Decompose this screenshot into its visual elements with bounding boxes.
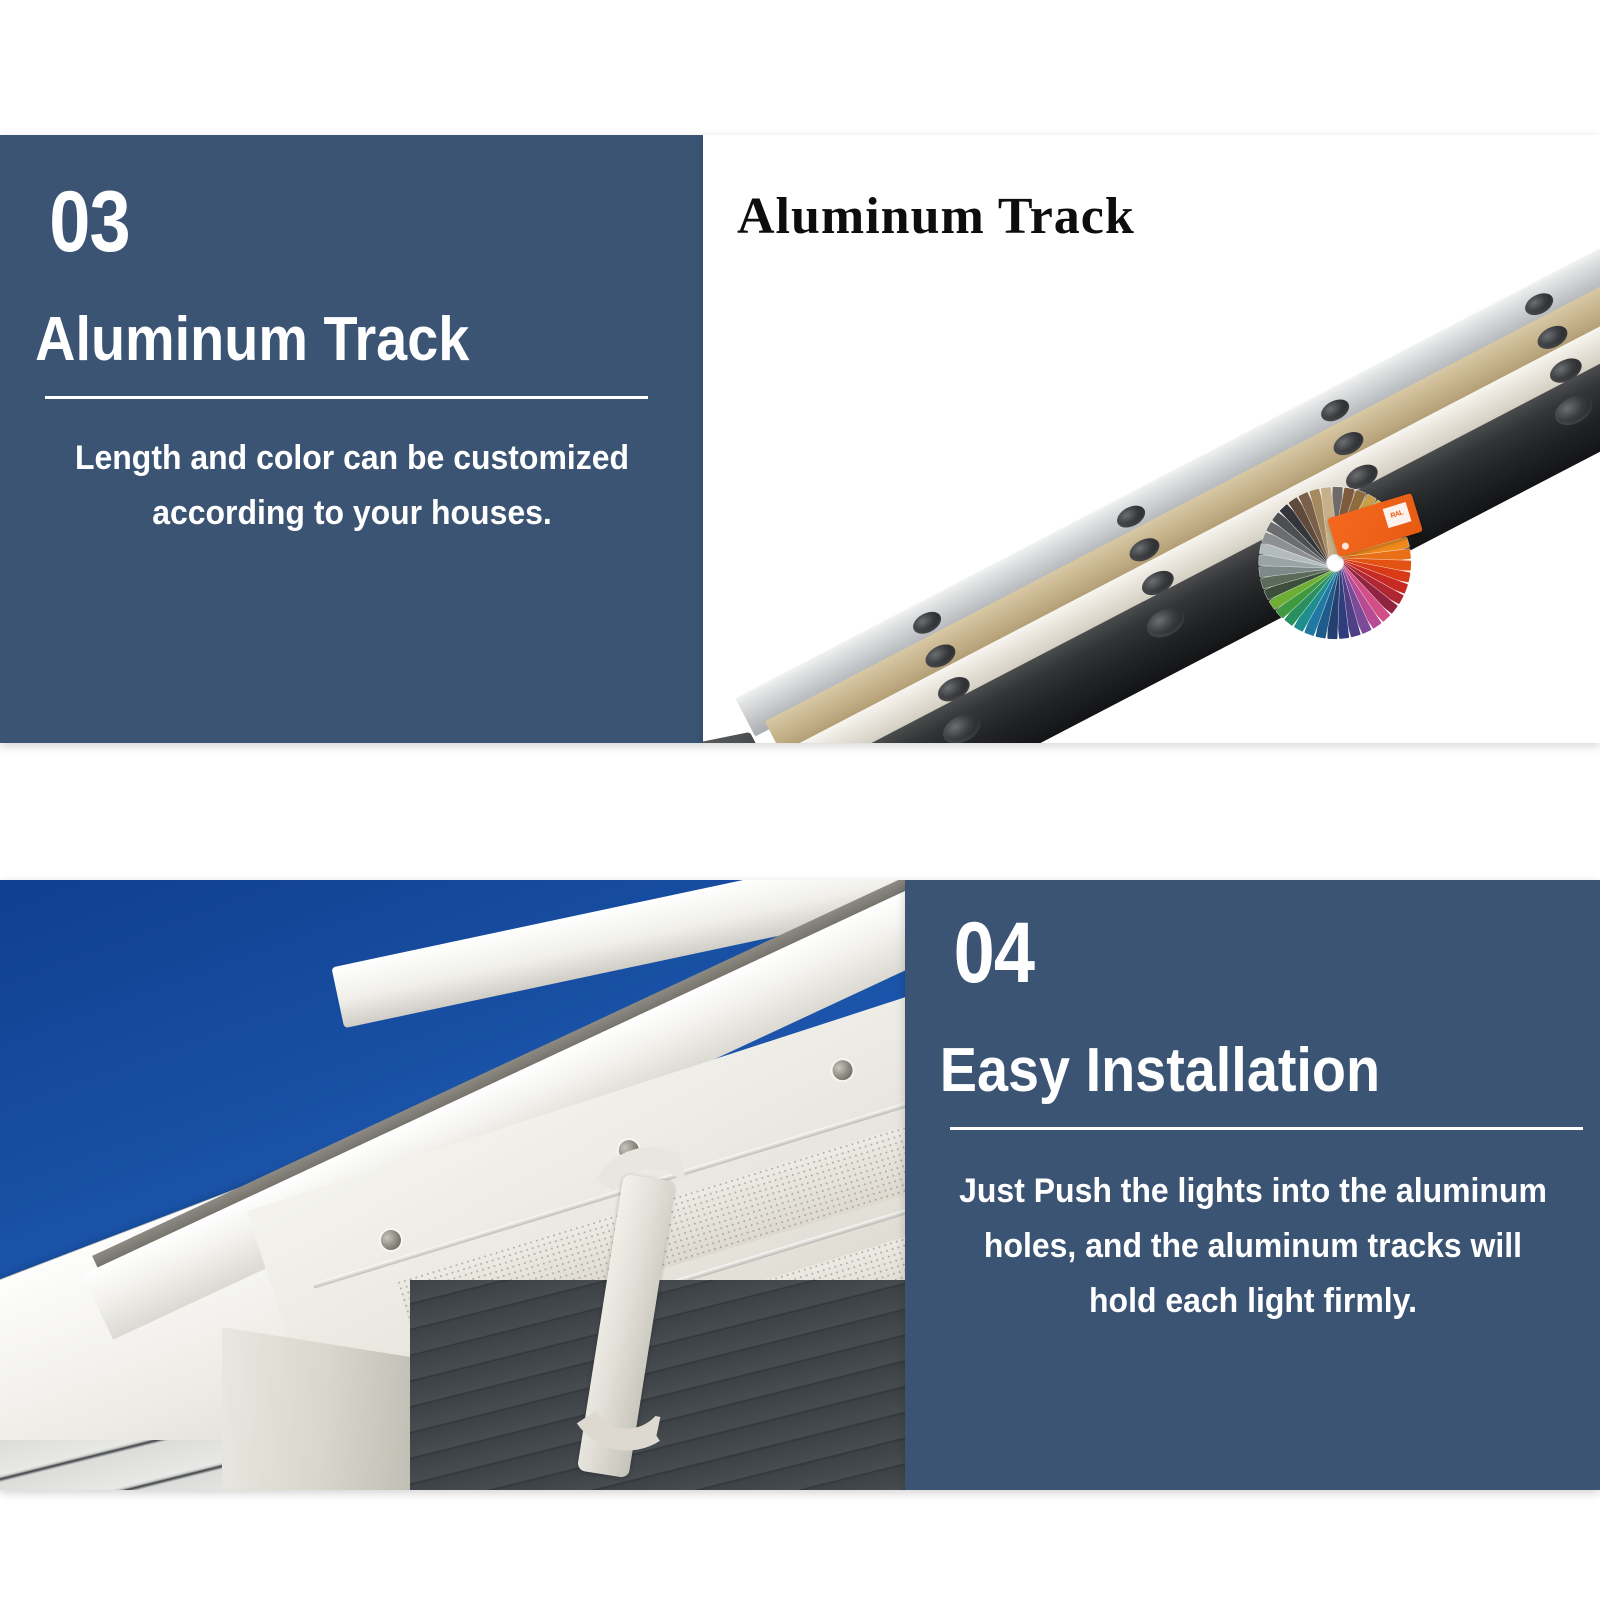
section-03: 03 Aluminum Track Length and color can b…	[0, 135, 1600, 743]
section-04-title: Easy Installation	[940, 1038, 1566, 1103]
dark-wall-siding	[410, 1280, 905, 1490]
section-03-divider	[45, 396, 648, 399]
section-04-divider	[950, 1127, 1583, 1130]
fan-card-rivet	[1341, 542, 1350, 551]
section-03-product-panel: Aluminum Track	[703, 135, 1600, 743]
roof-soffit-photo	[0, 880, 905, 1490]
section-03-step-number: 03	[49, 179, 654, 265]
fan-card-label: RAL	[1383, 502, 1412, 528]
mounting-hole	[938, 708, 985, 743]
soffit-screw	[830, 1058, 855, 1083]
section-04-step-number: 04	[954, 910, 1552, 996]
section-04-description: Just Push the lights into the aluminum h…	[958, 1164, 1548, 1329]
section-03-title: Aluminum Track	[35, 307, 668, 372]
section-04-installation-photo	[0, 880, 905, 1490]
section-03-text-panel: 03 Aluminum Track Length and color can b…	[0, 135, 703, 743]
section-04: 04 Easy Installation Just Push the light…	[0, 880, 1600, 1490]
color-fan-deck-icon: RAL	[1255, 483, 1415, 643]
section-03-description: Length and color can be customized accor…	[61, 431, 644, 541]
corner-post	[222, 1327, 410, 1490]
soffit-screw	[378, 1227, 403, 1252]
infographic-page: 03 Aluminum Track Length and color can b…	[0, 0, 1600, 1600]
fan-hub	[1327, 555, 1343, 571]
aluminum-track-illustration	[703, 135, 1600, 743]
mounting-hole	[1550, 389, 1597, 431]
mounting-hole	[1142, 602, 1189, 644]
section-04-text-panel: 04 Easy Installation Just Push the light…	[905, 880, 1600, 1490]
